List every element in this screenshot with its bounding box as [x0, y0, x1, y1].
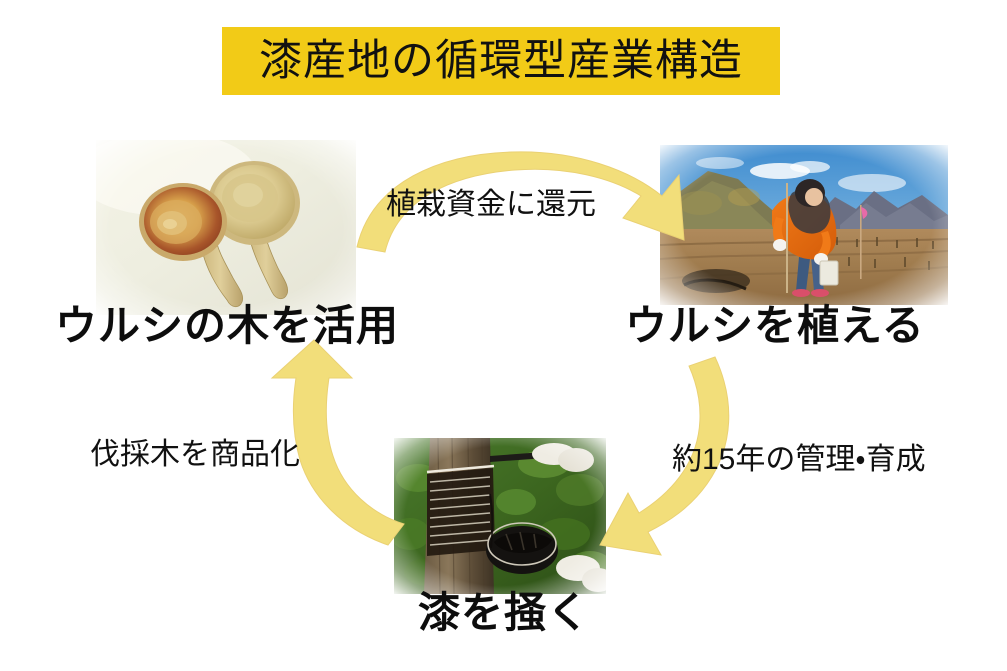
arrow-label-manage-grow: 約15年の管理・育成 [672, 445, 926, 475]
node-label-plant-urushi: ウルシを植える [625, 305, 925, 347]
wooden-ladles-photo-inner [96, 140, 356, 315]
arrow-label-return-funds: 植栽資金に還元 [386, 190, 596, 220]
arrow-label-commercialize: 伐採木を商品化 [90, 440, 300, 470]
lacquer-tapping-photo-inner [394, 438, 606, 594]
node-label-tap-lacquer: 漆を掻く [418, 592, 590, 634]
page-title: 漆産地の循環型産業構造 [259, 40, 743, 83]
wooden-ladles-photo [96, 140, 356, 315]
node-label-use-wood: ウルシの木を活用 [55, 305, 399, 347]
tree-planting-photo [660, 145, 948, 305]
title-banner: 漆産地の循環型産業構造 [222, 27, 780, 95]
lacquer-tapping-photo [394, 438, 606, 594]
tree-planting-photo-inner [660, 145, 948, 305]
diagram-canvas: 漆産地の循環型産業構造 [0, 0, 1007, 671]
